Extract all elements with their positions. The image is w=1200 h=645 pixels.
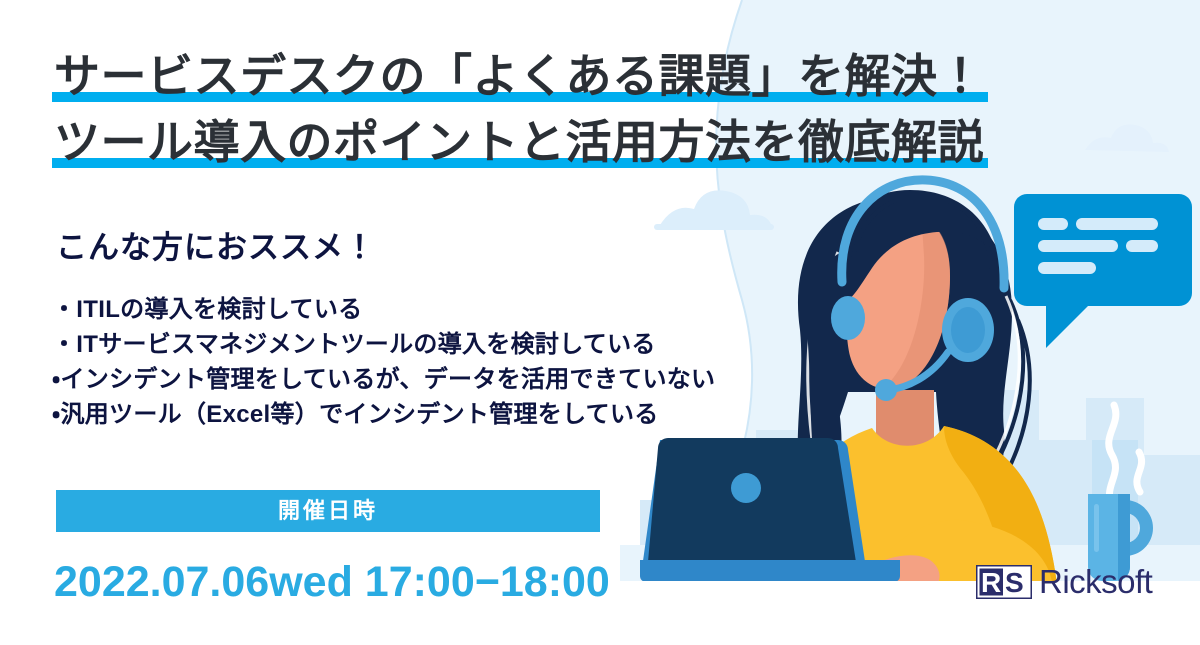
headset-earcup-right-inner xyxy=(951,307,985,353)
svg-text:S: S xyxy=(1005,567,1024,598)
headset-mic-tip xyxy=(875,379,897,401)
ricksoft-rs-mark-icon: R S xyxy=(976,565,1032,599)
chat-line-1a xyxy=(1038,218,1068,230)
page-title: サービスデスクの「よくある課題」を解決！ ツール導入のポイントと活用方法を徹底解… xyxy=(52,48,1200,170)
chat-line-2b xyxy=(1126,240,1158,252)
mug-highlight xyxy=(1094,504,1099,552)
list-item: ・汎用ツール（Excel等）でインシデント管理をしている xyxy=(52,399,715,430)
schedule-banner-label: 開催日時 xyxy=(278,500,378,522)
schedule-datetime: 2022.07.06wed 17:00−18:00 xyxy=(54,556,610,608)
title-line-1-text: サービスデスクの「よくある課題」を解決！ xyxy=(54,48,984,104)
title-line-2: ツール導入のポイントと活用方法を徹底解説 xyxy=(52,114,988,170)
title-line-2-text: ツール導入のポイントと活用方法を徹底解説 xyxy=(54,114,984,170)
laptop-logo xyxy=(731,473,761,503)
laptop-base xyxy=(640,560,900,582)
banner-canvas: サービスデスクの「よくある課題」を解決！ ツール導入のポイントと活用方法を徹底解… xyxy=(0,0,1200,645)
list-item: ・ITサービスマネジメントツールの導入を検討している xyxy=(52,329,715,360)
title-line-1: サービスデスクの「よくある課題」を解決！ xyxy=(52,48,988,104)
list-item: ・ITILの導入を検討している xyxy=(52,294,715,325)
chat-line-2a xyxy=(1038,240,1118,252)
headset-earcup-left xyxy=(831,296,865,340)
ricksoft-logo: R S Ricksoft xyxy=(976,565,1152,599)
chat-line-1b xyxy=(1076,218,1158,230)
svg-text:R: R xyxy=(981,567,1001,598)
ricksoft-wordmark: Ricksoft xyxy=(1039,565,1152,599)
recommend-heading: こんな方におススメ！ xyxy=(56,228,376,268)
list-item: ・インシデント管理をしているが、データを活用できていない xyxy=(52,364,715,395)
recommend-bullet-list: ・ITILの導入を検討している ・ITサービスマネジメントツールの導入を検討して… xyxy=(52,294,715,430)
chat-line-3 xyxy=(1038,262,1096,274)
schedule-banner: 開催日時 xyxy=(56,490,600,532)
